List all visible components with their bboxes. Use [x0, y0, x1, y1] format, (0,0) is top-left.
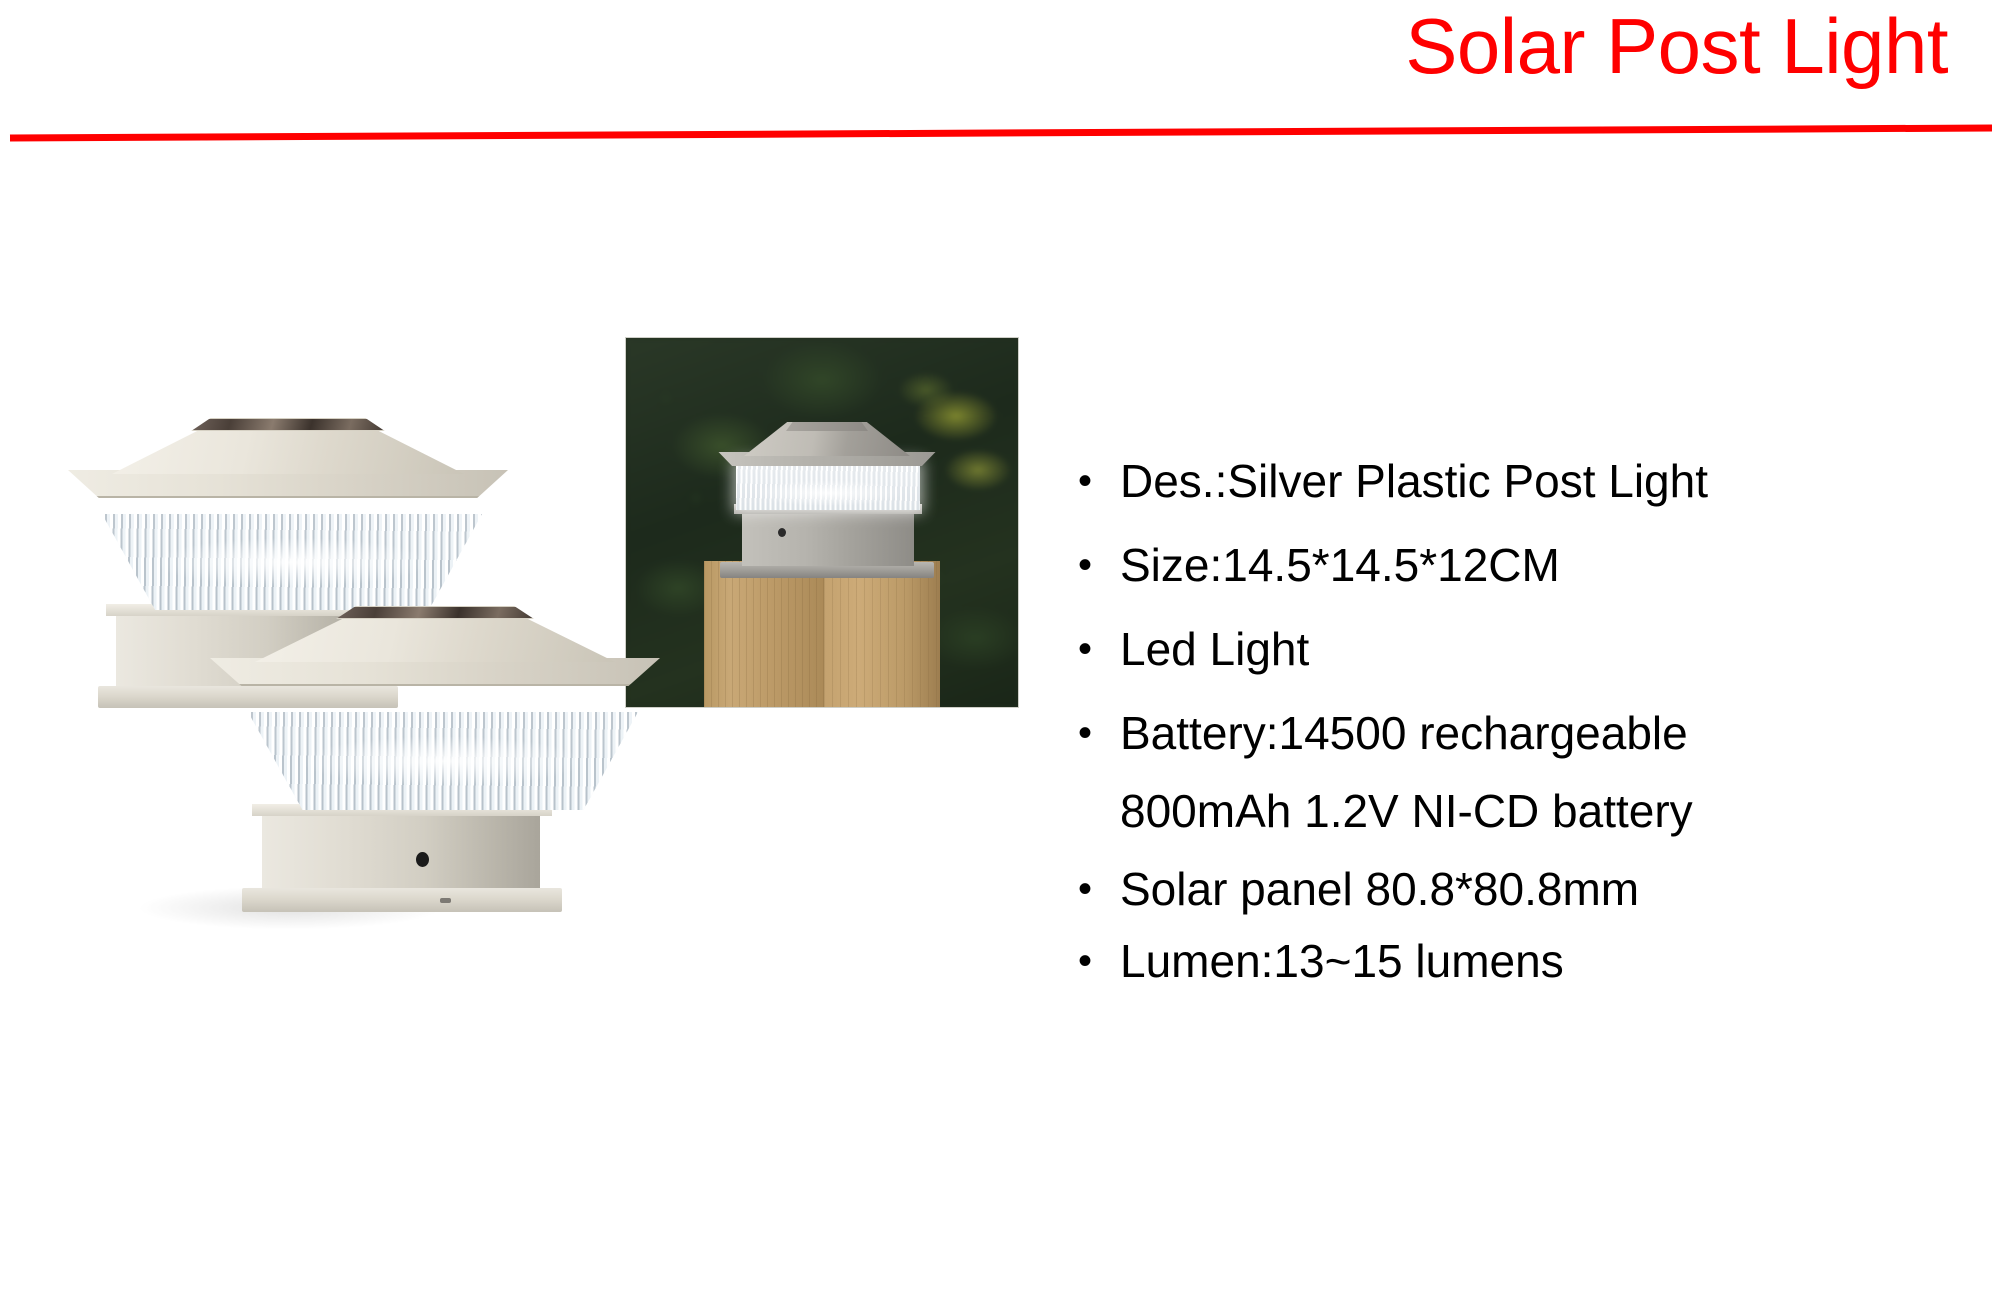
- bullet-item-battery: • Battery:14500 rechargeable: [1060, 710, 1960, 756]
- bullet-text-led: Led Light: [1120, 626, 1960, 672]
- bullet-text-battery: Battery:14500 rechargeable: [1120, 710, 1960, 756]
- bullet-marker-icon: •: [1060, 938, 1120, 984]
- front-cap-slope: [255, 614, 615, 662]
- back-lamp-cap: [68, 418, 508, 518]
- bullet-text-size: Size:14.5*14.5*12CM: [1120, 542, 1960, 588]
- inset-photo: [625, 337, 1019, 708]
- bullet-item-battery-cont: 800mAh 1.2V NI-CD battery: [1060, 788, 1960, 834]
- bullet-item-description: • Des.:Silver Plastic Post Light: [1060, 458, 1960, 504]
- inset-lamp-cap: [714, 422, 940, 468]
- bullet-marker-icon: •: [1060, 626, 1120, 672]
- bullet-item-lumen: • Lumen:13~15 lumens: [1060, 938, 1960, 984]
- spacer: [1060, 834, 1960, 866]
- front-lamp-base-slot: [440, 898, 451, 903]
- spacer: [1060, 588, 1960, 626]
- post-light-front: [200, 606, 660, 936]
- bullet-text-description: Des.:Silver Plastic Post Light: [1120, 458, 1960, 504]
- back-solar-panel: [191, 418, 385, 431]
- back-cap-eave: [68, 470, 508, 498]
- bullet-text-lumen: Lumen:13~15 lumens: [1120, 938, 1960, 984]
- bullet-marker-icon: •: [1060, 710, 1120, 756]
- red-divider-line: [0, 110, 1992, 150]
- red-divider: [0, 110, 1992, 150]
- spacer: [1060, 756, 1960, 788]
- inset-lamp-lens-glow: [724, 476, 932, 510]
- inset-lamp-base: [742, 510, 914, 566]
- bullet-item-led: • Led Light: [1060, 626, 1960, 672]
- front-solar-panel: [336, 606, 534, 619]
- front-lamp-cap: [210, 606, 660, 714]
- inset-solar-panel: [786, 422, 868, 431]
- main-product-image: [60, 408, 630, 948]
- front-lamp-plinth: [242, 888, 562, 912]
- bullet-marker-icon: •: [1060, 458, 1120, 504]
- spacer: [1060, 504, 1960, 542]
- spacer: [1060, 672, 1960, 710]
- bullet-text-battery-cont: 800mAh 1.2V NI-CD battery: [1120, 788, 1960, 834]
- bullet-marker-icon: •: [1060, 866, 1120, 912]
- spec-bullet-list: • Des.:Silver Plastic Post Light • Size:…: [1060, 458, 1960, 984]
- bullet-item-size: • Size:14.5*14.5*12CM: [1060, 542, 1960, 588]
- page-title: Solar Post Light: [1405, 0, 1948, 94]
- front-cap-eave: [210, 658, 660, 686]
- back-lamp-lens-glow: [112, 522, 472, 606]
- bullet-text-solar-panel: Solar panel 80.8*80.8mm: [1120, 866, 1960, 912]
- bullet-marker-icon: •: [1060, 542, 1120, 588]
- front-lamp-screw-hole: [416, 852, 429, 867]
- slide-canvas: Solar Post Light: [0, 0, 1992, 1302]
- front-lamp-lens-glow: [258, 720, 628, 806]
- back-cap-slope: [112, 426, 464, 474]
- bullet-item-solar-panel: • Solar panel 80.8*80.8mm: [1060, 866, 1960, 912]
- inset-lamp: [714, 422, 940, 592]
